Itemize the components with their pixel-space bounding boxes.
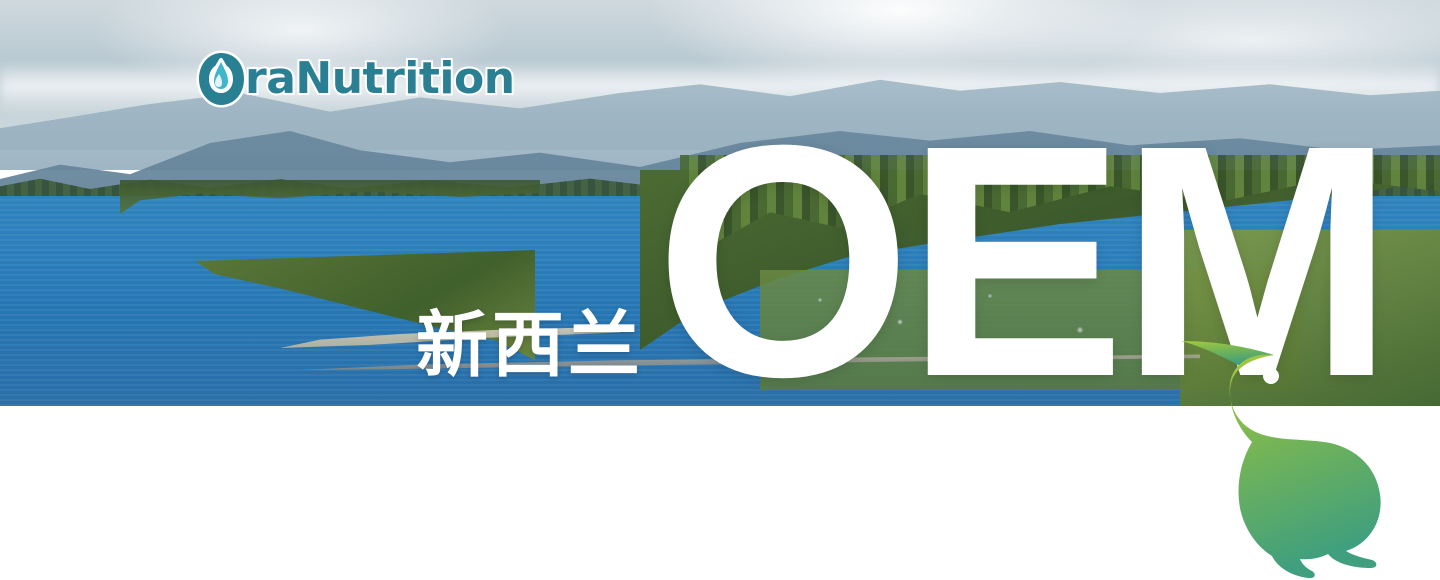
new-zealand-headline: 新西兰 [416,310,644,382]
water-drop-icon [193,50,249,108]
oem-promo-banner: OEM 新西兰 raNutrition 全方位剂型OEM工厂 ◆配方乳粉◆滴剂◆… [0,0,1440,580]
brand-logo[interactable]: raNutrition [193,50,515,108]
kiwi-bird-icon [1178,330,1428,580]
brand-wordmark: raNutrition [245,57,515,101]
